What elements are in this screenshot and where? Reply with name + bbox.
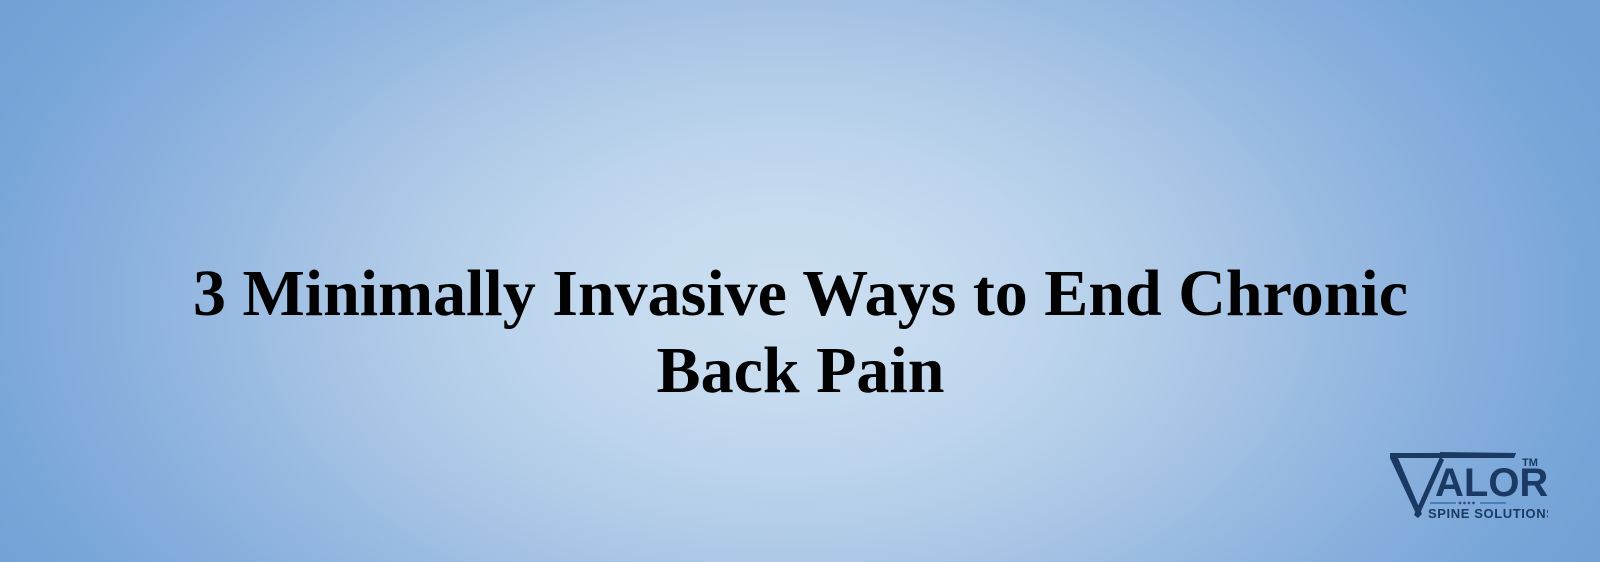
logo-tagline: SPINE SOLUTIONS (1428, 506, 1548, 521)
valor-spine-solutions-logo[interactable]: ALOR TM SPINE SOLUTIONS (1388, 446, 1548, 522)
article-header-banner: 3 Minimally Invasive Ways to End Chronic… (0, 0, 1600, 562)
page-title: 3 Minimally Invasive Ways to End Chronic… (118, 256, 1483, 409)
logo-svg: ALOR TM SPINE SOLUTIONS (1388, 446, 1548, 522)
logo-trademark: TM (1522, 457, 1538, 469)
